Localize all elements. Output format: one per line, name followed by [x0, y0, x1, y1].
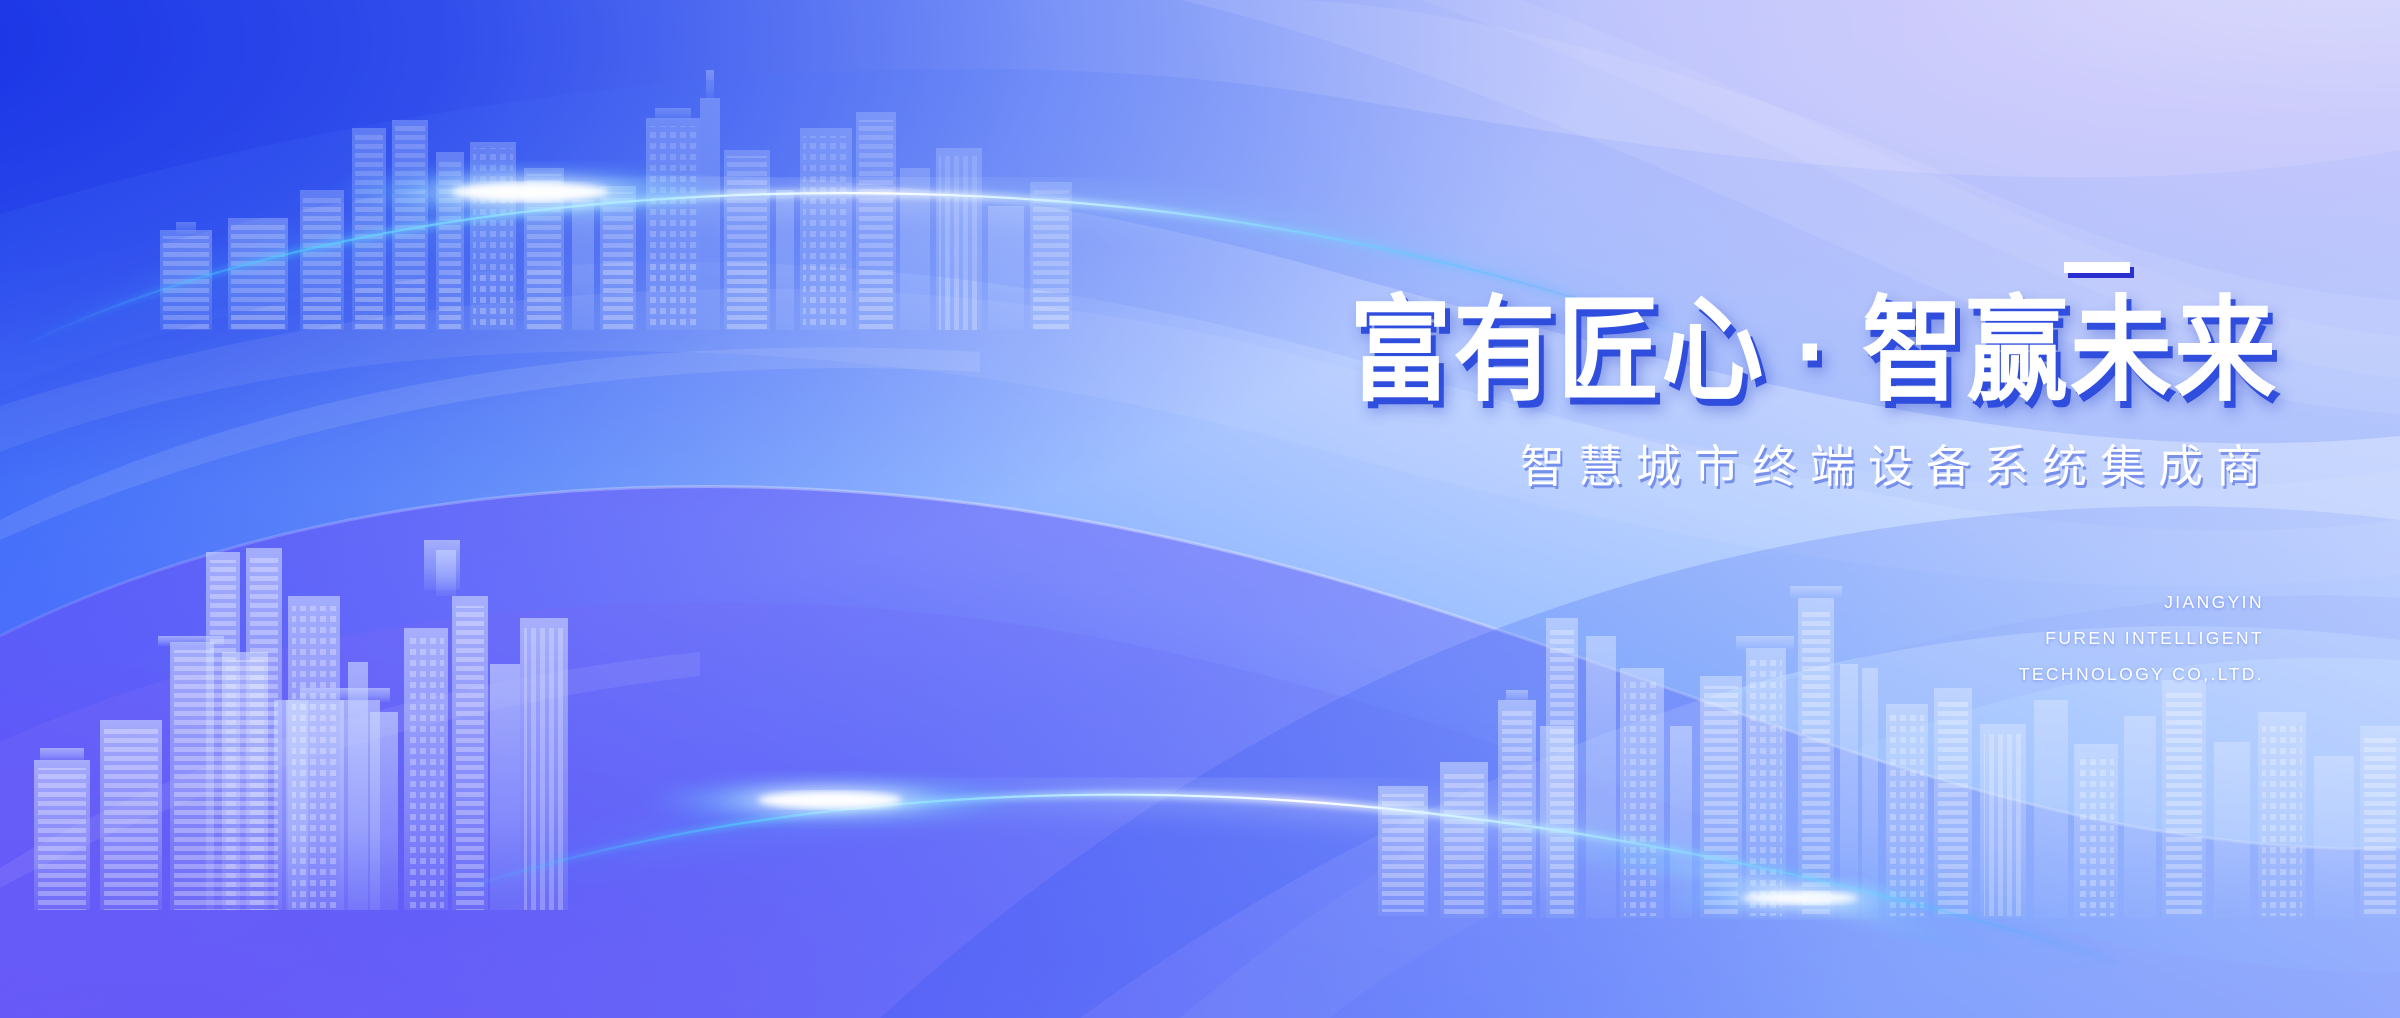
accent-dash-icon	[2064, 262, 2130, 273]
company-line-2: FUREN INTELLIGENT	[1082, 621, 2264, 657]
page-title: 富有匠心 · 智赢未来	[1082, 294, 2282, 408]
company-line-1: JIANGYIN	[1082, 585, 2264, 621]
banner-canvas: 富有匠心 · 智赢未来 智慧城市终端设备系统集成商 JIANGYIN FUREN…	[0, 0, 2400, 1018]
headline-block: 富有匠心 · 智赢未来 智慧城市终端设备系统集成商 JIANGYIN FUREN…	[1082, 246, 2282, 693]
company-name-block: JIANGYIN FUREN INTELLIGENT TECHNOLOGY CO…	[1082, 585, 2282, 693]
page-subtitle: 智慧城市终端设备系统集成商	[1082, 444, 2276, 489]
company-line-3: TECHNOLOGY CO,.LTD.	[1082, 657, 2264, 693]
